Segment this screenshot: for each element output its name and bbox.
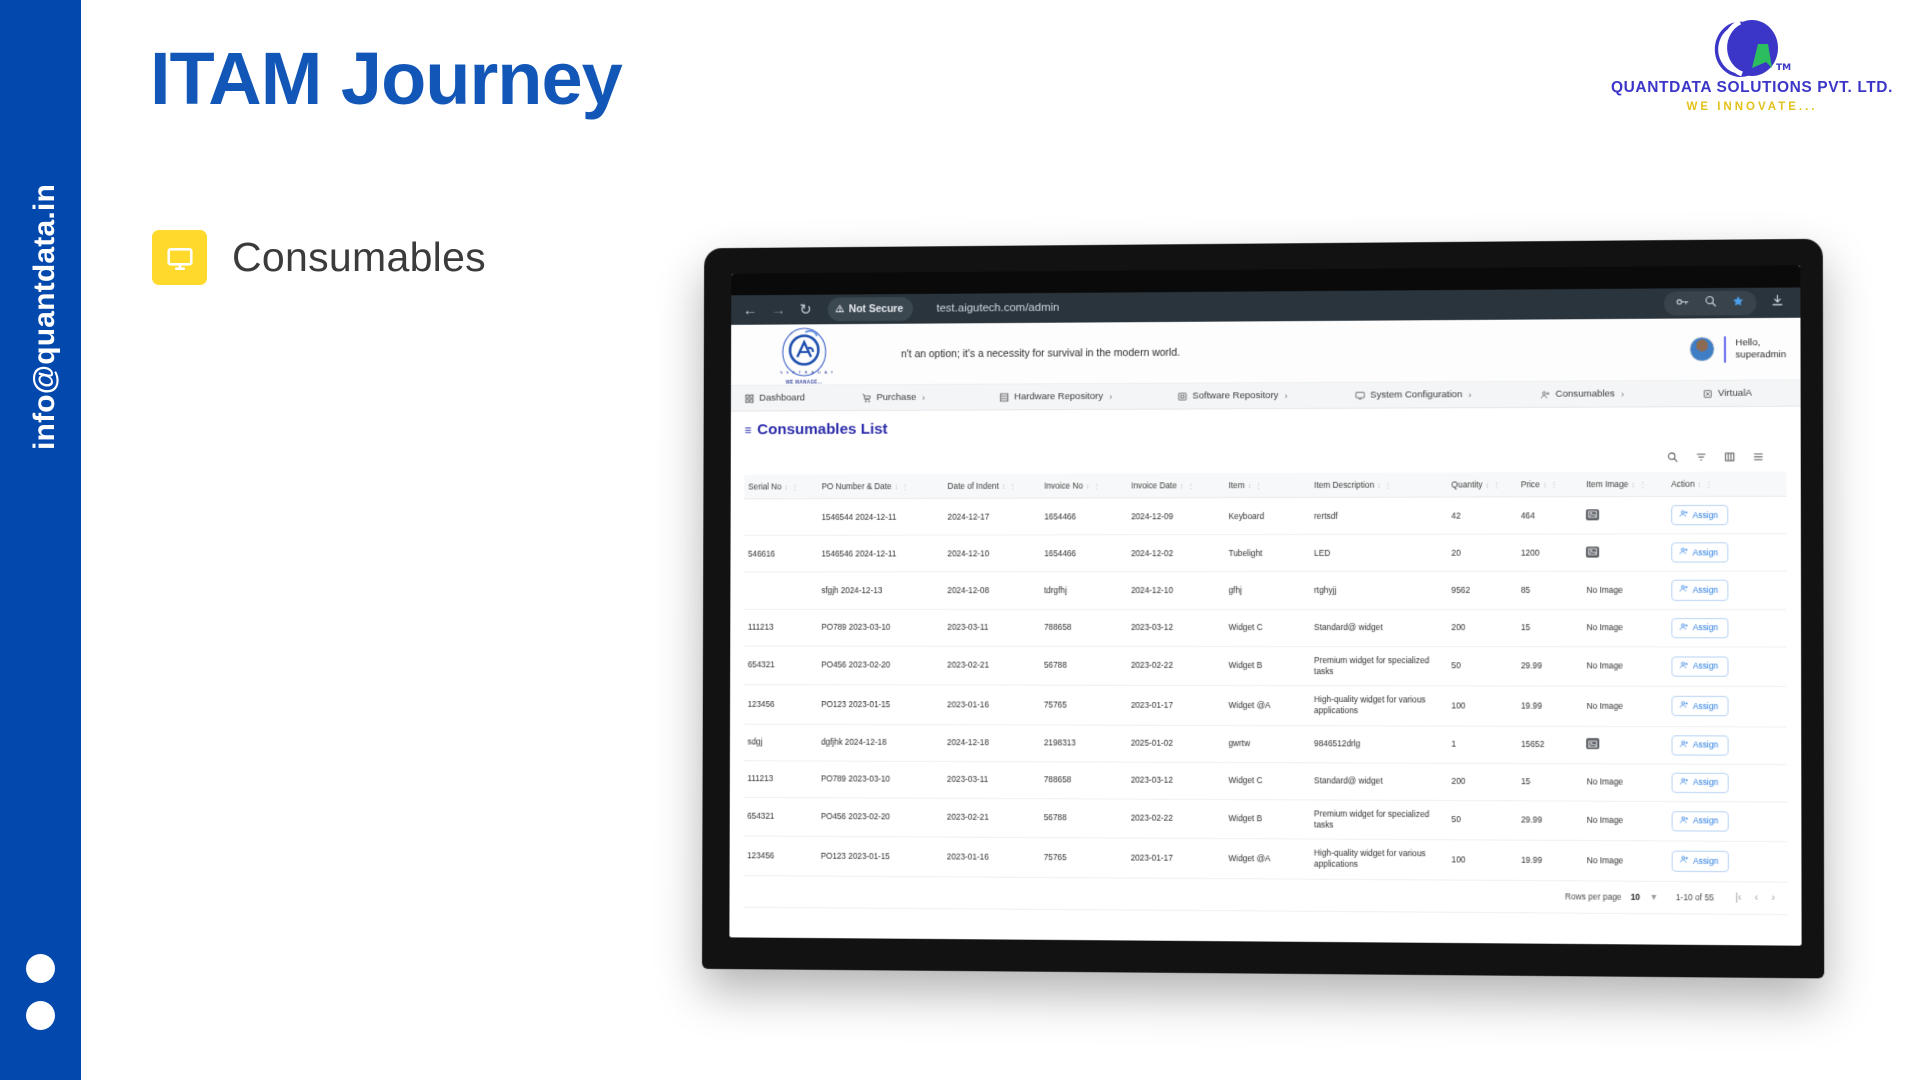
column-header[interactable]: Item Image↕ ⋮ xyxy=(1582,472,1667,497)
assign-button[interactable]: Assign xyxy=(1671,542,1728,562)
no-image-label: No Image xyxy=(1587,661,1624,671)
rail-dot xyxy=(26,954,55,983)
cell-item-image: No Image xyxy=(1582,572,1667,610)
cell-date-of-indent: 2024-12-18 xyxy=(943,724,1040,761)
cell-invoice-no: 2198313 xyxy=(1040,724,1127,761)
assign-button-label: Assign xyxy=(1693,816,1718,827)
cell-date-of-indent: 2024-12-08 xyxy=(943,572,1040,609)
column-header-label: Price xyxy=(1521,479,1540,489)
asset-radar-tagline: WE MANAGE... xyxy=(776,379,833,384)
person-add-icon xyxy=(1679,584,1688,596)
asset-radar-logo: A S S E T R A D A R WE MANAGE... xyxy=(776,326,833,384)
chevron-right-icon: › xyxy=(1284,391,1287,401)
user-greeting: Hello, xyxy=(1736,337,1787,349)
cell-quantity: 20 xyxy=(1447,534,1517,571)
cell-quantity: 50 xyxy=(1447,646,1517,686)
cell-item: Keyboard xyxy=(1225,497,1310,534)
cell-price: 1200 xyxy=(1517,534,1583,572)
table-toolbar xyxy=(744,447,1786,475)
cell-item-description: rertsdf xyxy=(1310,497,1447,535)
nav-label: System Configuration xyxy=(1370,389,1462,400)
cell-price: 19.99 xyxy=(1517,840,1583,880)
column-header-label: PO Number & Date xyxy=(822,481,892,491)
cell-invoice-date: 2025-01-02 xyxy=(1127,725,1225,762)
cell-invoice-no: 1654466 xyxy=(1040,535,1127,572)
cell-item-image: No Image xyxy=(1582,686,1667,726)
cell-invoice-date: 2024-12-02 xyxy=(1127,535,1225,572)
search-icon[interactable] xyxy=(1667,452,1678,466)
column-header-label: Invoice Date xyxy=(1131,480,1177,490)
assign-button-label: Assign xyxy=(1693,509,1718,520)
cell-po-number-date: PO456 2023-02-20 xyxy=(817,646,943,685)
cart-icon xyxy=(862,393,872,403)
no-image-label: No Image xyxy=(1586,622,1623,632)
image-thumb-icon[interactable] xyxy=(1586,509,1599,520)
cell-item-image: No Image xyxy=(1583,801,1668,841)
person-add-icon xyxy=(1680,700,1689,712)
cell-item-description: rtghyjj xyxy=(1310,572,1447,609)
cell-item: gfhj xyxy=(1225,572,1311,609)
page-range-label: 1-10 of 55 xyxy=(1676,892,1714,902)
cell-item: Tubelight xyxy=(1225,535,1311,572)
chevron-down-icon[interactable]: ▾ xyxy=(1649,892,1658,903)
cell-item-description: Standard@ widget xyxy=(1310,762,1447,800)
page-content: ≡ Consumables List xyxy=(729,407,1801,946)
cell-invoice-no: 788658 xyxy=(1040,609,1127,646)
cell-action: Assign xyxy=(1667,496,1786,534)
cell-quantity: 9562 xyxy=(1447,572,1517,609)
cell-item-image: No Image xyxy=(1583,841,1668,881)
assign-button-label: Assign xyxy=(1693,856,1718,867)
column-header-label: Item xyxy=(1229,480,1245,490)
assign-button[interactable]: Assign xyxy=(1671,618,1728,638)
download-icon[interactable] xyxy=(1771,294,1784,312)
cell-invoice-no: 75765 xyxy=(1040,838,1127,878)
svg-text:TM: TM xyxy=(1776,63,1791,73)
cell-price: 15652 xyxy=(1517,726,1583,764)
assign-button-label: Assign xyxy=(1693,661,1718,672)
assign-button-label: Assign xyxy=(1693,547,1718,558)
cell-price: 19.99 xyxy=(1517,686,1583,726)
cell-invoice-date: 2024-12-10 xyxy=(1127,572,1225,609)
assign-button-label: Assign xyxy=(1693,739,1718,750)
cell-serial-no: 123456 xyxy=(743,836,817,875)
cell-price: 29.99 xyxy=(1517,801,1583,841)
assign-button-label: Assign xyxy=(1693,701,1718,712)
nav-label: Consumables xyxy=(1555,388,1614,399)
person-add-icon xyxy=(1680,739,1689,751)
column-header[interactable]: Invoice No↕ ⋮ xyxy=(1040,473,1127,498)
nav-item-purchase[interactable]: Purchase › xyxy=(862,392,1000,404)
person-add-icon xyxy=(1680,776,1689,788)
column-header[interactable]: Price↕ ⋮ xyxy=(1517,472,1582,497)
nav-label: Dashboard xyxy=(759,393,805,404)
column-header-label: Date of Indent xyxy=(948,481,999,491)
browser-action-pill xyxy=(1664,291,1757,316)
cell-serial-no xyxy=(744,572,817,609)
user-greeting-block: Hello, superadmin xyxy=(1736,337,1787,361)
person-add-icon xyxy=(1679,509,1688,521)
cell-date-of-indent: 2023-02-21 xyxy=(943,646,1040,685)
person-add-icon xyxy=(1679,547,1688,559)
person-add-icon xyxy=(1680,855,1689,867)
cell-item: gwrtw xyxy=(1224,725,1310,763)
nav-item-hardware-repository[interactable]: Hardware Repository › xyxy=(999,391,1177,403)
column-header[interactable]: Invoice Date↕ ⋮ xyxy=(1127,473,1225,498)
app-header: A S S E T R A D A R WE MANAGE... n't an … xyxy=(731,318,1801,386)
disk-icon xyxy=(1177,391,1187,401)
arrow-left-icon[interactable]: ← xyxy=(743,303,758,318)
laptop-screen: ← → ↻ Not Secure test.aigutech.com/admin xyxy=(729,265,1801,945)
contact-email: info@quantdata.in xyxy=(28,117,62,517)
cell-item-description: LED xyxy=(1310,534,1447,571)
cell-action: Assign xyxy=(1667,534,1786,572)
table-row[interactable]: 111213PO789 2023-03-102023-03-1178865820… xyxy=(744,609,1787,647)
cell-item: Widget C xyxy=(1224,762,1310,800)
sort-icon[interactable]: ↕ ⋮ xyxy=(895,484,910,491)
column-header-label: Action xyxy=(1671,479,1694,489)
user-profile[interactable]: Hello, superadmin xyxy=(1690,336,1787,363)
sort-icon[interactable]: ↕ ⋮ xyxy=(1180,483,1195,490)
cell-quantity: 100 xyxy=(1447,686,1517,726)
nav-item-virtual-assets[interactable]: VirtualA xyxy=(1703,388,1752,399)
column-header-label: Item Description xyxy=(1314,480,1374,490)
cell-invoice-date: 2023-03-12 xyxy=(1127,609,1225,646)
next-page-icon[interactable]: › xyxy=(1769,892,1777,903)
rows-per-page-select[interactable]: 10 xyxy=(1631,892,1640,902)
cell-invoice-date: 2023-02-22 xyxy=(1127,799,1225,839)
laptop-mockup: ← → ↻ Not Secure test.aigutech.com/admin xyxy=(695,243,1817,973)
cell-item-description: 9846512drlg xyxy=(1310,725,1447,763)
reload-icon[interactable]: ↻ xyxy=(799,302,811,317)
cell-po-number-date: dgfjhk 2024-12-18 xyxy=(817,724,943,761)
column-header[interactable]: PO Number & Date↕ ⋮ xyxy=(818,474,944,499)
cell-price: 15 xyxy=(1517,763,1583,801)
sort-icon[interactable]: ↕ ⋮ xyxy=(1248,483,1263,490)
cell-price: 85 xyxy=(1517,572,1583,609)
security-label: Not Secure xyxy=(849,303,903,315)
nav-item-dashboard[interactable]: Dashboard xyxy=(745,392,862,403)
column-header[interactable]: Date of Indent↕ ⋮ xyxy=(944,474,1041,499)
assign-button[interactable]: Assign xyxy=(1672,772,1729,793)
no-image-label: No Image xyxy=(1587,815,1624,825)
cell-serial-no: 111213 xyxy=(743,760,817,797)
monitor-icon xyxy=(1355,390,1365,400)
table-row[interactable]: 111213PO789 2023-03-102023-03-1178865820… xyxy=(743,760,1787,801)
cell-item: Widget B xyxy=(1225,646,1311,686)
cell-action: Assign xyxy=(1667,686,1787,726)
table-body: 1546544 2024-12-112024-12-1716544662024-… xyxy=(743,496,1787,882)
cell-po-number-date: sfgjh 2024-12-13 xyxy=(817,572,943,609)
cell-item-image xyxy=(1582,534,1667,572)
table-head: Serial No↕ ⋮PO Number & Date↕ ⋮Date of I… xyxy=(744,471,1786,498)
cell-price: 464 xyxy=(1517,497,1583,535)
cell-quantity: 50 xyxy=(1447,800,1517,840)
cell-action: Assign xyxy=(1667,764,1787,802)
chevron-right-icon: › xyxy=(922,392,925,402)
prev-page-icon[interactable]: ‹ xyxy=(1753,892,1761,903)
warning-triangle-icon xyxy=(835,300,844,318)
chevron-right-icon: › xyxy=(1109,391,1112,401)
rail-dots xyxy=(26,954,55,1048)
nav-label: VirtualA xyxy=(1718,388,1752,399)
cell-date-of-indent: 2024-12-10 xyxy=(943,535,1040,572)
cell-serial-no: 123456 xyxy=(744,685,818,724)
page-title: ITAM Journey xyxy=(150,36,622,121)
corporate-name: QUANTDATA SOLUTIONS PVT. LTD. xyxy=(1602,79,1902,97)
laptop-body: ← → ↻ Not Secure test.aigutech.com/admin xyxy=(702,239,1824,979)
image-thumb-icon[interactable] xyxy=(1587,738,1600,749)
table-row[interactable]: 5466161546546 2024-12-112024-12-10165446… xyxy=(744,534,1787,573)
columns-icon[interactable] xyxy=(1724,451,1735,465)
vm-icon xyxy=(1703,388,1713,398)
cell-price: 15 xyxy=(1517,609,1583,646)
assign-button-label: Assign xyxy=(1693,777,1718,788)
arrow-right-icon[interactable]: → xyxy=(771,302,786,317)
grid-icon xyxy=(745,393,755,403)
cell-quantity: 1 xyxy=(1447,726,1517,764)
star-icon[interactable] xyxy=(1732,294,1744,312)
cell-action: Assign xyxy=(1667,726,1787,764)
cell-item-image xyxy=(1582,497,1667,535)
sort-icon[interactable]: ↕ ⋮ xyxy=(784,484,799,491)
corporate-logo: TM QUANTDATA SOLUTIONS PVT. LTD. WE INNO… xyxy=(1602,14,1902,113)
svg-text:A S S E T R A D A R: A S S E T R A D A R xyxy=(776,369,833,374)
cell-invoice-no: 56788 xyxy=(1040,646,1127,685)
cell-serial-no: 111213 xyxy=(744,609,817,646)
cell-price: 29.99 xyxy=(1517,646,1583,686)
column-header[interactable]: Serial No↕ ⋮ xyxy=(744,474,817,498)
column-header-label: Quantity xyxy=(1451,479,1482,489)
nav-label: Hardware Repository xyxy=(1014,391,1103,402)
chevron-right-icon: › xyxy=(1621,389,1624,399)
server-icon xyxy=(999,392,1009,402)
monitor-icon xyxy=(152,230,207,285)
cell-date-of-indent: 2023-03-11 xyxy=(943,609,1040,646)
cell-invoice-no: 1654466 xyxy=(1040,498,1127,535)
cell-po-number-date: PO123 2023-01-15 xyxy=(817,837,943,877)
image-thumb-icon[interactable] xyxy=(1586,546,1599,557)
table-row[interactable]: 123456PO123 2023-01-152023-01-1675765202… xyxy=(743,836,1787,882)
table-container: Serial No↕ ⋮PO Number & Date↕ ⋮Date of I… xyxy=(743,447,1787,915)
nav-label: Purchase xyxy=(876,392,916,403)
first-page-icon[interactable]: |‹ xyxy=(1733,892,1743,903)
cell-po-number-date: 1546544 2024-12-11 xyxy=(818,498,944,535)
table-row[interactable]: 654321PO456 2023-02-202023-02-2156788202… xyxy=(744,646,1787,687)
cell-invoice-date: 2023-02-22 xyxy=(1127,646,1225,685)
column-header[interactable]: Item↕ ⋮ xyxy=(1225,473,1310,498)
assign-button-label: Assign xyxy=(1693,585,1718,596)
no-image-label: No Image xyxy=(1587,777,1624,787)
sort-icon[interactable]: ↕ ⋮ xyxy=(1086,484,1101,491)
cell-action: Assign xyxy=(1667,571,1786,609)
cell-serial-no xyxy=(744,499,817,536)
rail-dot xyxy=(26,1001,55,1030)
cell-quantity: 42 xyxy=(1447,497,1516,535)
person-add-icon xyxy=(1679,622,1688,634)
cell-invoice-no: 788658 xyxy=(1040,762,1127,799)
cell-serial-no: 654321 xyxy=(744,646,818,685)
cell-po-number-date: PO123 2023-01-15 xyxy=(817,685,943,724)
table-row[interactable]: 1546544 2024-12-112024-12-1716544662024-… xyxy=(744,496,1786,535)
table-row[interactable]: 654321PO456 2023-02-202023-02-2156788202… xyxy=(743,797,1787,842)
cell-invoice-date: 2023-03-12 xyxy=(1127,762,1225,800)
sort-icon[interactable]: ↕ ⋮ xyxy=(1543,482,1559,489)
menu-icon[interactable] xyxy=(1753,451,1764,465)
people-icon xyxy=(1540,389,1550,399)
user-name: superadmin xyxy=(1736,349,1787,361)
cell-serial-no: sdgj xyxy=(744,724,818,761)
rows-per-page-label: Rows per page xyxy=(1565,891,1622,901)
assign-button[interactable]: Assign xyxy=(1671,505,1728,526)
cell-invoice-date: 2023-01-17 xyxy=(1127,838,1225,878)
cell-item-description: Premium widget for specialized tasks xyxy=(1310,646,1447,686)
cell-date-of-indent: 2023-03-11 xyxy=(943,761,1040,798)
assign-button[interactable]: Assign xyxy=(1672,811,1729,832)
cell-date-of-indent: 2023-01-16 xyxy=(943,685,1040,724)
nav-item-consumables[interactable]: Consumables › xyxy=(1540,388,1702,400)
corporate-tagline: WE INNOVATE... xyxy=(1602,101,1902,113)
cell-serial-no: 546616 xyxy=(744,535,817,572)
column-header-label: Serial No xyxy=(748,481,781,491)
cell-invoice-date: 2024-12-09 xyxy=(1127,498,1225,535)
cell-invoice-no: 56788 xyxy=(1040,799,1127,839)
page-heading: Consumables List xyxy=(757,421,888,439)
consumables-list-header: ≡ Consumables List xyxy=(731,407,1801,447)
cell-action: Assign xyxy=(1667,647,1787,687)
chevron-right-icon: › xyxy=(1468,390,1471,400)
cell-item-description: High-quality widget for various applicat… xyxy=(1310,686,1447,726)
consumables-table: Serial No↕ ⋮PO Number & Date↕ ⋮Date of I… xyxy=(743,471,1787,882)
cell-invoice-no: 75765 xyxy=(1040,685,1127,724)
subtitle-label: Consumables xyxy=(232,234,486,281)
assign-button-label: Assign xyxy=(1693,622,1718,633)
cell-action: Assign xyxy=(1667,609,1786,647)
key-icon[interactable] xyxy=(1676,294,1689,312)
cell-item-image xyxy=(1583,726,1668,764)
no-image-label: No Image xyxy=(1587,700,1624,710)
user-divider xyxy=(1724,336,1726,362)
security-chip[interactable]: Not Secure xyxy=(827,297,913,321)
nav-item-system-configuration[interactable]: System Configuration › xyxy=(1355,389,1540,401)
filter-icon[interactable] xyxy=(1696,451,1707,465)
cell-quantity: 200 xyxy=(1447,763,1517,801)
cell-po-number-date: PO789 2023-03-10 xyxy=(817,761,943,798)
assign-button[interactable]: Assign xyxy=(1671,656,1728,676)
column-header-label: Invoice No xyxy=(1044,481,1083,491)
cell-quantity: 200 xyxy=(1447,609,1517,646)
assign-button[interactable]: Assign xyxy=(1671,580,1728,600)
cell-date-of-indent: 2023-02-21 xyxy=(943,798,1040,838)
sort-icon[interactable]: ↕ ⋮ xyxy=(1486,482,1502,489)
nav-item-software-repository[interactable]: Software Repository › xyxy=(1177,390,1355,402)
cell-item: Widget B xyxy=(1224,799,1310,839)
cell-quantity: 100 xyxy=(1447,840,1517,880)
sort-icon[interactable]: ↕ ⋮ xyxy=(1698,482,1714,489)
sort-icon[interactable]: ↕ ⋮ xyxy=(1632,482,1648,489)
avatar xyxy=(1690,336,1715,361)
browser-toolbar-right xyxy=(1664,291,1788,316)
table-header-row: Serial No↕ ⋮PO Number & Date↕ ⋮Date of I… xyxy=(744,471,1786,498)
column-header[interactable]: Action↕ ⋮ xyxy=(1667,471,1786,496)
no-image-label: No Image xyxy=(1586,585,1623,595)
column-header[interactable]: Item Description↕ ⋮ xyxy=(1310,472,1447,497)
person-add-icon xyxy=(1680,660,1689,672)
quantdata-q-mark: TM xyxy=(1602,14,1902,78)
cell-date-of-indent: 2023-01-16 xyxy=(943,837,1040,877)
search-icon[interactable] xyxy=(1705,294,1717,312)
cell-item-image: No Image xyxy=(1582,609,1667,647)
cell-po-number-date: PO456 2023-02-20 xyxy=(817,798,943,838)
cell-item: Widget @A xyxy=(1224,839,1310,879)
cell-item: Widget C xyxy=(1225,609,1311,646)
header-marquee-text: n't an option; it's a necessity for surv… xyxy=(901,346,1180,360)
assign-button[interactable]: Assign xyxy=(1671,696,1728,717)
cell-item-description: Standard@ widget xyxy=(1310,609,1447,646)
table-row[interactable]: sdgjdgfjhk 2024-12-182024-12-18219831320… xyxy=(744,724,1787,765)
no-image-label: No Image xyxy=(1587,855,1624,865)
column-header-label: Item Image xyxy=(1586,479,1628,489)
cell-invoice-no: tdrgfhj xyxy=(1040,572,1127,609)
cell-item-description: High-quality widget for various applicat… xyxy=(1310,839,1447,879)
list-icon: ≡ xyxy=(744,423,750,437)
person-add-icon xyxy=(1680,815,1689,827)
cell-po-number-date: 1546546 2024-12-11 xyxy=(817,535,943,572)
cell-po-number-date: PO789 2023-03-10 xyxy=(817,609,943,646)
cell-invoice-date: 2023-01-17 xyxy=(1127,685,1225,725)
column-header[interactable]: Quantity↕ ⋮ xyxy=(1447,472,1516,497)
sort-icon[interactable]: ↕ ⋮ xyxy=(1002,484,1017,491)
nav-label: Software Repository xyxy=(1192,390,1278,401)
cell-serial-no: 654321 xyxy=(743,797,817,836)
pagination: Rows per page 10 ▾ 1-10 of 55 |‹ ‹ › xyxy=(743,876,1787,915)
assign-button[interactable]: Assign xyxy=(1672,851,1729,872)
cell-item: Widget @A xyxy=(1224,686,1310,726)
cell-item-description: Premium widget for specialized tasks xyxy=(1310,800,1447,840)
assign-button[interactable]: Assign xyxy=(1671,735,1728,756)
subtitle-row: Consumables xyxy=(152,230,486,285)
left-rail: info@quantdata.in xyxy=(0,0,81,1080)
sort-icon[interactable]: ↕ ⋮ xyxy=(1377,483,1393,490)
slide-root: info@quantdata.in ITAM Journey Consumabl… xyxy=(0,0,1920,1080)
cell-action: Assign xyxy=(1667,801,1787,841)
cell-item-image: No Image xyxy=(1582,647,1667,687)
table-row[interactable]: sfgjh 2024-12-132024-12-08tdrgfhj2024-12… xyxy=(744,571,1787,609)
address-bar-url[interactable]: test.aigutech.com/admin xyxy=(937,302,1060,315)
cell-date-of-indent: 2024-12-17 xyxy=(943,498,1040,535)
table-row[interactable]: 123456PO123 2023-01-152023-01-1675765202… xyxy=(744,685,1787,727)
cell-item-image: No Image xyxy=(1583,763,1668,801)
cell-action: Assign xyxy=(1668,841,1788,882)
